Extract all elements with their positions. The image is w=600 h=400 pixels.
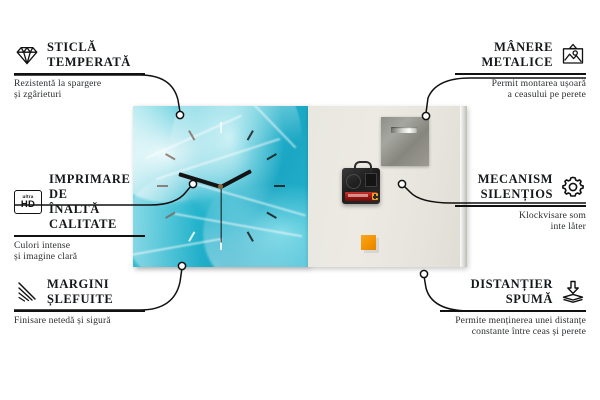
feature-header: MARGINIȘLEFUITE <box>14 277 145 307</box>
feature-title: MARGINIȘLEFUITE <box>47 277 113 307</box>
down-arrow-pad-icon <box>560 279 586 305</box>
feature-subtitle: Klockvisare sominte låter <box>455 210 586 233</box>
clock-tick <box>220 122 222 133</box>
feature-rule <box>14 310 145 312</box>
battery-terminal <box>372 193 378 200</box>
clock-tick <box>165 153 176 160</box>
feature-high-quality-print: ultra HD IMPRIMARE DEÎNALTĂ CALITATE Cul… <box>14 172 145 263</box>
clock-tick <box>266 153 277 160</box>
feature-subtitle: Permite menținerea unei distanțeconstant… <box>440 315 586 338</box>
feature-title: DISTANȚIERSPUMĂ <box>471 277 553 307</box>
clock-tick <box>157 185 168 187</box>
feature-subtitle: Finisare netedă și sigură <box>14 315 145 327</box>
clock-minute-hand <box>178 172 221 189</box>
clock-tick <box>274 185 285 187</box>
feature-rule <box>455 205 586 207</box>
feature-subtitle: Rezistentă la spargereși zgârieturi <box>14 78 145 101</box>
feature-title: STICLĂTEMPERATĂ <box>47 40 131 70</box>
feature-subtitle: Permit montarea ușoarăa ceasului pe pere… <box>455 78 586 101</box>
clock-tick <box>246 231 253 242</box>
feature-subtitle: Culori intenseși imagine clară <box>14 240 145 263</box>
feature-foam-spacer: DISTANȚIERSPUMĂ Permite menținerea unei … <box>440 277 586 338</box>
clock-tick <box>246 130 253 141</box>
feature-rule <box>14 235 145 237</box>
feature-header: ultra HD IMPRIMARE DEÎNALTĂ CALITATE <box>14 172 145 232</box>
infographic-canvas: STICLĂTEMPERATĂ Rezistentă la spargereși… <box>0 0 600 400</box>
clock-hour-hand <box>220 169 252 188</box>
mechanism-hanging-loop <box>354 161 372 172</box>
mechanism-dial <box>346 174 361 189</box>
feather-streak <box>190 181 306 216</box>
feature-title: IMPRIMARE DEÎNALTĂ CALITATE <box>49 172 145 232</box>
feature-tempered-glass: STICLĂTEMPERATĂ Rezistentă la spargereși… <box>14 40 145 101</box>
clock-tick <box>165 212 176 219</box>
feature-rule <box>440 310 586 312</box>
feature-header: MÂNEREMETALICE <box>455 40 586 70</box>
feature-silent-mechanism: MECANISMSILENȚIOS Klockvisare sominte lå… <box>455 172 586 233</box>
clock-tick <box>266 212 277 219</box>
battery <box>345 192 377 201</box>
ultra-hd-icon: ultra HD <box>14 190 42 214</box>
gear-icon <box>560 174 586 200</box>
clock-back-panel <box>308 106 467 267</box>
picture-frame-icon <box>560 42 586 68</box>
feature-header: DISTANȚIERSPUMĂ <box>440 277 586 307</box>
battery-label <box>348 194 368 197</box>
feature-polished-edges: MARGINIȘLEFUITE Finisare netedă și sigur… <box>14 277 145 326</box>
clock-center-cap <box>218 184 223 189</box>
feature-rule <box>14 73 145 75</box>
clock-front-panel <box>133 106 308 267</box>
feather-streak <box>133 238 222 256</box>
feature-title: MECANISMSILENȚIOS <box>478 172 553 202</box>
clock-second-hand <box>220 187 221 243</box>
product-image <box>133 106 467 267</box>
feature-header: STICLĂTEMPERATĂ <box>14 40 145 70</box>
metal-hanger-plate <box>381 117 429 166</box>
diagonal-lines-icon <box>14 279 40 305</box>
feature-title: MÂNEREMETALICE <box>481 40 553 70</box>
feature-rule <box>455 73 586 75</box>
feature-metal-handles: MÂNEREMETALICE Permit montarea ușoarăa c… <box>455 40 586 101</box>
hanger-slot <box>391 127 417 133</box>
connector-endpoint <box>420 270 427 277</box>
diamond-icon <box>14 42 40 68</box>
foam-spacer <box>361 235 376 250</box>
clock-tick <box>188 231 195 242</box>
clock-mechanism <box>342 168 380 204</box>
mechanism-housing <box>365 173 377 187</box>
feature-header: MECANISMSILENȚIOS <box>455 172 586 202</box>
